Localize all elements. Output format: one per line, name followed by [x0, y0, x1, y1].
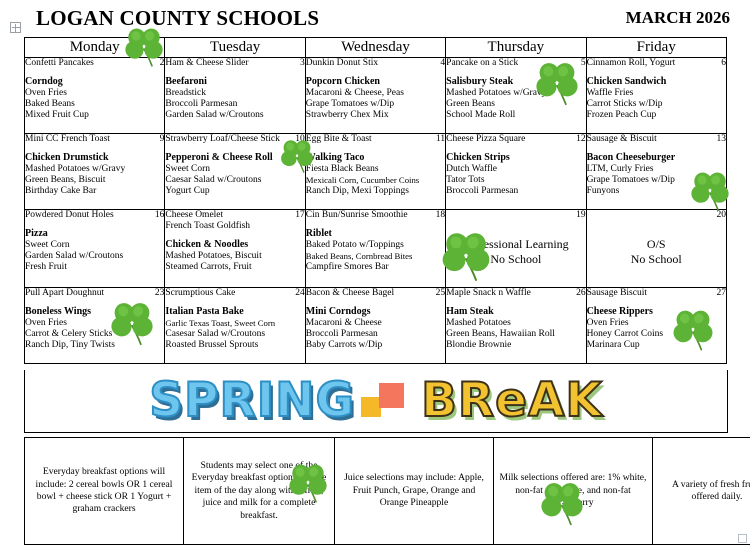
no-school-notice: O/SNo School	[587, 237, 726, 267]
day-number: 3	[296, 58, 305, 69]
menu-page: LOGAN COUNTY SCHOOLS MARCH 2026 Monday T…	[0, 0, 750, 546]
calendar-week-row: Powdered Donut Holes16PizzaSweet CornGar…	[25, 210, 727, 288]
breakfast-item: Mini CC French Toast	[25, 134, 110, 145]
calendar-day-cell[interactable]: Bacon & Cheese Bagel25Mini CorndogsMacar…	[305, 288, 445, 364]
day-header-tuesday: Tuesday	[165, 38, 305, 58]
banner-word-break: BReAK	[421, 375, 603, 427]
day-number: 12	[572, 134, 586, 145]
day-number: 23	[151, 288, 165, 299]
breakfast-item: Sausage Biscuit	[587, 288, 647, 299]
flower-decoration	[359, 381, 417, 421]
side-item: Sweet Corn	[25, 240, 164, 251]
month-label: MARCH 2026	[626, 8, 730, 28]
side-item: Strawberry Chex Mix	[306, 110, 445, 121]
breakfast-item: Cin Bun/Sunrise Smoothie	[306, 210, 408, 221]
side-item: Campfire Smores Bar	[306, 262, 445, 273]
page-title: LOGAN COUNTY SCHOOLS	[36, 6, 319, 31]
day-header-friday: Friday	[586, 38, 726, 58]
day-number: 6	[717, 58, 726, 69]
calendar-day-cell[interactable]: Cheese Omelet17French Toast GoldfishChic…	[165, 210, 305, 288]
calendar-day-cell[interactable]: Cinnamon Roll, Yogurt6Chicken SandwichWa…	[586, 58, 726, 134]
entree-item: Chicken & Noodles	[165, 239, 304, 251]
calendar-day-cell[interactable]: Egg Bite & Toast11Walking TacoFiesta Bla…	[305, 134, 445, 210]
side-item: Steamed Carrots, Fruit	[165, 262, 304, 273]
note-student-selection: Students may select one of the Everyday …	[184, 438, 335, 545]
entree-item: Mini Corndogs	[306, 306, 445, 318]
day-number: 4	[436, 58, 445, 69]
side-item: Carrot & Celery Sticks	[25, 329, 164, 340]
calendar-day-cell[interactable]: Pull Apart Doughnut23Boneless WingsOven …	[25, 288, 165, 364]
entree-item: Corndog	[25, 76, 164, 88]
entree-item: Cheese Rippers	[587, 306, 726, 318]
side-item: LTM, Curly Fries	[587, 164, 726, 175]
entree-item: Chicken Sandwich	[587, 76, 726, 88]
side-item: Baked Beans, Cornbread Bites	[306, 251, 445, 262]
calendar-day-cell[interactable]: Scrumptious Cake24Italian Pasta BakeGarl…	[165, 288, 305, 364]
entree-item: Boneless Wings	[25, 306, 164, 318]
side-item: Mexicali Corn, Cucumber Coins	[306, 175, 445, 186]
no-school-line: Professional Learning	[446, 237, 585, 252]
calendar-day-cell[interactable]: Sausage & Biscuit13Bacon CheeseburgerLTM…	[586, 134, 726, 210]
side-item: Tator Tots	[446, 175, 585, 186]
breakfast-item: Dunkin Donut Stix	[306, 58, 378, 69]
entree-item: Bacon Cheeseburger	[587, 152, 726, 164]
breakfast-item: Egg Bite & Toast	[306, 134, 372, 145]
page-header: LOGAN COUNTY SCHOOLS MARCH 2026	[0, 6, 750, 34]
side-item: Mashed Potatoes w/Gravy	[25, 164, 164, 175]
day-number: 13	[712, 134, 726, 145]
day-number: 10	[291, 134, 305, 145]
side-item: Frozen Peach Cup	[587, 110, 726, 121]
entree-item: Italian Pasta Bake	[165, 306, 304, 318]
calendar-day-cell[interactable]: Dunkin Donut Stix4Popcorn ChickenMacaron…	[305, 58, 445, 134]
note-milk-selections: Milk selections offered are: 1% white, n…	[494, 438, 653, 545]
side-item: Breadstick	[165, 88, 304, 99]
side-item: Broccoli Parmesan	[306, 329, 445, 340]
side-item: Mashed Potatoes	[446, 318, 585, 329]
entree-item: Pizza	[25, 228, 164, 240]
calendar-week-row: Confetti Pancakes2CorndogOven FriesBaked…	[25, 58, 727, 134]
no-school-notice: Professional LearningNo School	[446, 237, 585, 267]
day-header-wednesday: Wednesday	[305, 38, 445, 58]
side-item: Garden Salad w/Croutons	[165, 110, 304, 121]
side-item: Blondie Brownie	[446, 340, 585, 351]
day-number: 5	[577, 58, 586, 69]
side-item: Baby Carrots w/Dip	[306, 340, 445, 351]
calendar-day-cell[interactable]: Ham & Cheese Slider3BeefaroniBreadstickB…	[165, 58, 305, 134]
side-item: Mixed Fruit Cup	[25, 110, 164, 121]
menu-calendar-table: Monday Tuesday Wednesday Thursday Friday…	[24, 37, 727, 364]
breakfast-item: Sausage & Biscuit	[587, 134, 657, 145]
day-number: 24	[291, 288, 305, 299]
calendar-day-cell[interactable]: Powdered Donut Holes16PizzaSweet CornGar…	[25, 210, 165, 288]
side-item: Oven Fries	[25, 318, 164, 329]
side-item: Dutch Waffle	[446, 164, 585, 175]
calendar-day-cell[interactable]: 19Professional LearningNo School	[446, 210, 586, 288]
side-item: Oven Fries	[587, 318, 726, 329]
calendar-day-cell[interactable]: Cheese Pizza Square12Chicken StripsDutch…	[446, 134, 586, 210]
breakfast-item: Scrumptious Cake	[165, 288, 235, 299]
side-item: Macaroni & Cheese, Peas	[306, 88, 445, 99]
side-item: Green Beans	[446, 99, 585, 110]
side-item: Casesar Salad w/Croutons	[165, 329, 304, 340]
side-item: Grape Tomatoes w/Dip	[587, 175, 726, 186]
calendar-day-cell[interactable]: Pancake on a Stick5Salisbury SteakMashed…	[446, 58, 586, 134]
side-item: Mashed Potatoes w/Gravy	[446, 88, 585, 99]
entree-item: Chicken Strips	[446, 152, 585, 164]
breakfast-item: Maple Snack n Waffle	[446, 288, 531, 299]
calendar-day-cell[interactable]: Maple Snack n Waffle26Ham SteakMashed Po…	[446, 288, 586, 364]
day-number: 26	[572, 288, 586, 299]
side-item: Funyons	[587, 186, 726, 197]
side-item: Oven Fries	[25, 88, 164, 99]
day-number: 18	[432, 210, 446, 221]
breakfast-item: Bacon & Cheese Bagel	[306, 288, 394, 299]
side-item: Sweet Corn	[165, 164, 304, 175]
no-school-line: No School	[587, 252, 726, 267]
breakfast-item: Cinnamon Roll, Yogurt	[587, 58, 676, 69]
note-juice-selections: Juice selections may include: Apple, Fru…	[335, 438, 494, 545]
side-item: Ranch Dip, Tiny Twists	[25, 340, 164, 351]
day-number: 25	[432, 288, 446, 299]
side-item: Fresh Fruit	[25, 262, 164, 273]
side-item: Carrot Sticks w/Dip	[587, 99, 726, 110]
calendar-header-row: Monday Tuesday Wednesday Thursday Friday	[25, 38, 727, 58]
side-item: Macaroni & Cheese	[306, 318, 445, 329]
note-everyday-breakfast: Everyday breakfast options will include:…	[25, 438, 184, 545]
no-school-line: No School	[446, 252, 585, 267]
side-item: Mashed Potatoes, Biscuit	[165, 251, 304, 262]
breakfast-item: Ham & Cheese Slider	[165, 58, 248, 69]
side-item: Baked Potato w/Toppings	[306, 240, 445, 251]
day-number: 17	[291, 210, 305, 221]
day-header-thursday: Thursday	[446, 38, 586, 58]
day-number: 20	[712, 210, 726, 221]
side-item: Marinara Cup	[587, 340, 726, 351]
breakfast-item: Confetti Pancakes	[25, 58, 94, 69]
day-number: 9	[156, 134, 165, 145]
calendar-day-cell[interactable]: Mini CC French Toast9Chicken DrumstickMa…	[25, 134, 165, 210]
breakfast-item: Pancake on a Stick	[446, 58, 518, 69]
side-item: Garden Salad w/Croutons	[25, 251, 164, 262]
calendar-day-cell[interactable]: 20O/SNo School	[586, 210, 726, 288]
footer-notes-table: Everyday breakfast options will include:…	[24, 437, 750, 545]
calendar-body: Confetti Pancakes2CorndogOven FriesBaked…	[25, 58, 727, 364]
entree-item: Ham Steak	[446, 306, 585, 318]
breakfast-item: Cheese Omelet	[165, 210, 223, 221]
calendar-week-row: Pull Apart Doughnut23Boneless WingsOven …	[25, 288, 727, 364]
side-item: Honey Carrot Coins	[587, 329, 726, 340]
calendar-week-row: Mini CC French Toast9Chicken DrumstickMa…	[25, 134, 727, 210]
entree-item: Pepperoni & Cheese Roll	[165, 152, 304, 164]
side-item: Yogurt Cup	[165, 186, 304, 197]
side-item: Fiesta Black Beans	[306, 164, 445, 175]
breakfast-item: Cheese Pizza Square	[446, 134, 525, 145]
side-item: Ranch Dip, Mexi Toppings	[306, 186, 445, 197]
calendar-day-cell[interactable]: Confetti Pancakes2CorndogOven FriesBaked…	[25, 58, 165, 134]
day-number: 11	[432, 134, 445, 145]
no-school-line: O/S	[587, 237, 726, 252]
side-item: Caesar Salad w/Croutons	[165, 175, 304, 186]
entree-item: Beefaroni	[165, 76, 304, 88]
day-number: 19	[572, 210, 586, 221]
resize-handle[interactable]	[738, 534, 747, 543]
spring-break-banner: SPRING BReAK	[24, 370, 728, 433]
side-item: Baked Beans	[25, 99, 164, 110]
side-item: Grape Tomatoes w/Dip	[306, 99, 445, 110]
side-item: Green Beans, Hawaiian Roll	[446, 329, 585, 340]
entree-item: Popcorn Chicken	[306, 76, 445, 88]
side-item: Broccoli Parmesan	[165, 99, 304, 110]
note-fresh-fruits: A variety of fresh fruits offered daily.	[653, 438, 750, 545]
side-item: Birthday Cake Bar	[25, 186, 164, 197]
side-item: Green Beans, Biscuit	[25, 175, 164, 186]
calendar-day-cell[interactable]: Sausage Biscuit27Cheese RippersOven Frie…	[586, 288, 726, 364]
side-item: School Made Roll	[446, 110, 585, 121]
breakfast-item: Powdered Donut Holes	[25, 210, 114, 221]
breakfast-item-secondary: French Toast Goldfish	[165, 221, 304, 232]
day-number: 16	[151, 210, 165, 221]
calendar-day-cell[interactable]: Strawberry Loaf/Cheese Stick10Pepperoni …	[165, 134, 305, 210]
breakfast-item: Pull Apart Doughnut	[25, 288, 104, 299]
side-item: Roasted Brussel Sprouts	[165, 340, 304, 351]
side-item: Broccoli Parmesan	[446, 186, 585, 197]
calendar-day-cell[interactable]: Cin Bun/Sunrise Smoothie18RibletBaked Po…	[305, 210, 445, 288]
side-item: Garlic Texas Toast, Sweet Corn	[165, 318, 304, 329]
day-header-monday: Monday	[25, 38, 165, 58]
banner-word-spring: SPRING	[149, 375, 355, 427]
entree-item: Riblet	[306, 228, 445, 240]
breakfast-item: Strawberry Loaf/Cheese Stick	[165, 134, 280, 145]
day-number: 2	[156, 58, 165, 69]
entree-item: Chicken Drumstick	[25, 152, 164, 164]
entree-item: Walking Taco	[306, 152, 445, 164]
side-item: Waffle Fries	[587, 88, 726, 99]
day-number: 27	[712, 288, 726, 299]
entree-item: Salisbury Steak	[446, 76, 585, 88]
